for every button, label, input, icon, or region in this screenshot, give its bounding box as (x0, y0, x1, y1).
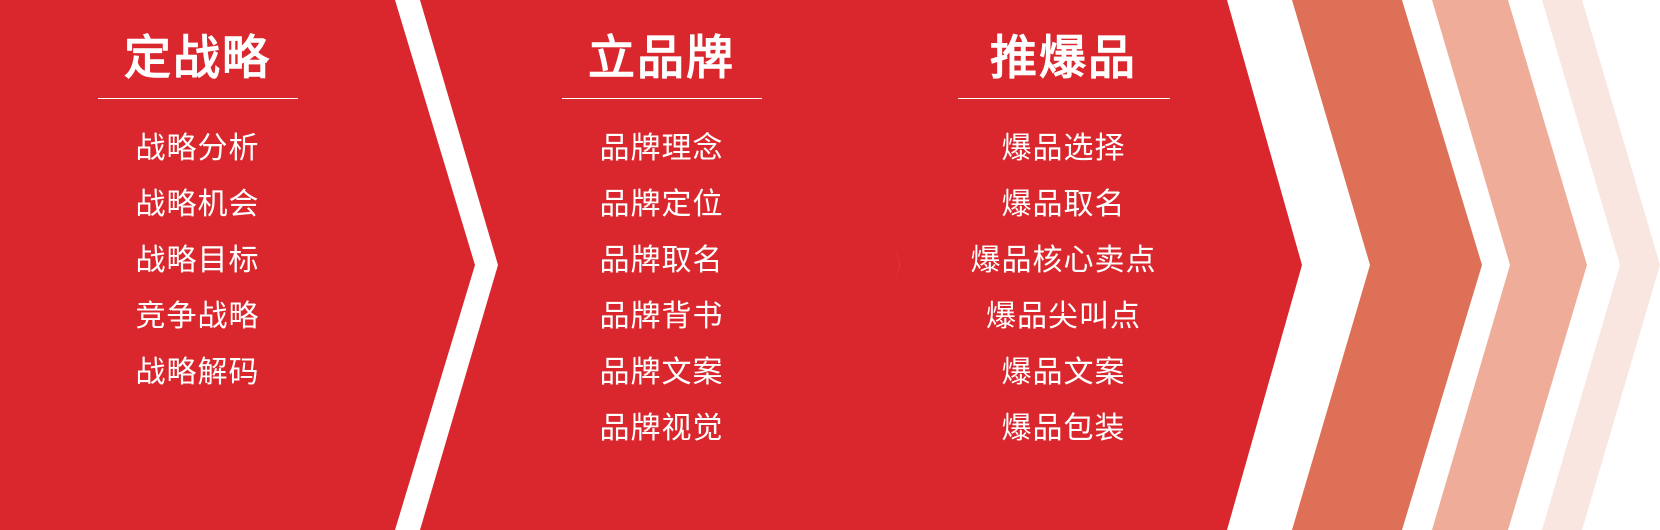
stage-panel-1-content: 定战略 战略分析 战略机会 战略目标 竞争战略 战略解码 (0, 0, 395, 530)
stage-panel-2-content: 立品牌 品牌理念 品牌定位 品牌取名 品牌背书 品牌文案 品牌视觉 (498, 0, 825, 530)
stage-1-title: 定战略 (124, 33, 271, 84)
stage-2-title-divider (562, 98, 762, 99)
list-item[interactable]: 品牌取名 (600, 233, 724, 289)
list-item[interactable]: 品牌理念 (600, 121, 724, 177)
stage-panel-3-content: 推爆品 爆品选择 爆品取名 爆品核心卖点 爆品尖叫点 爆品文案 爆品包装 (900, 0, 1227, 530)
stage-3-item-list: 爆品选择 爆品取名 爆品核心卖点 爆品尖叫点 爆品文案 爆品包装 (971, 121, 1157, 457)
list-item[interactable]: 竞争战略 (136, 289, 260, 345)
stage-3-title-divider (958, 98, 1170, 99)
list-item[interactable]: 爆品尖叫点 (971, 289, 1157, 345)
list-item[interactable]: 品牌定位 (600, 177, 724, 233)
stage-2-title: 立品牌 (588, 33, 735, 84)
list-item[interactable]: 爆品文案 (971, 345, 1157, 401)
stage-1-item-list: 战略分析 战略机会 战略目标 竞争战略 战略解码 (136, 121, 260, 401)
decorative-chevron-1 (1292, 0, 1482, 530)
stage-3-title: 推爆品 (990, 33, 1137, 84)
list-item[interactable]: 战略分析 (136, 121, 260, 177)
stage-1-title-divider (98, 98, 298, 99)
list-item[interactable]: 爆品取名 (971, 177, 1157, 233)
stage-panel-1[interactable]: 定战略 战略分析 战略机会 战略目标 竞争战略 战略解码 (0, 0, 475, 530)
stage-panel-2[interactable]: 立品牌 品牌理念 品牌定位 品牌取名 品牌背书 品牌文案 品牌视觉 (420, 0, 900, 530)
list-item[interactable]: 爆品核心卖点 (971, 233, 1157, 289)
list-item[interactable]: 战略解码 (136, 345, 260, 401)
stage-2-item-list: 品牌理念 品牌定位 品牌取名 品牌背书 品牌文案 品牌视觉 (600, 121, 724, 457)
list-item[interactable]: 战略目标 (136, 233, 260, 289)
list-item[interactable]: 爆品选择 (971, 121, 1157, 177)
list-item[interactable]: 战略机会 (136, 177, 260, 233)
list-item[interactable]: 品牌背书 (600, 289, 724, 345)
list-item[interactable]: 品牌视觉 (600, 401, 724, 457)
list-item[interactable]: 品牌文案 (600, 345, 724, 401)
chevron-process-infographic: 定战略 战略分析 战略机会 战略目标 竞争战略 战略解码 立品牌 品牌理念 品牌… (0, 0, 1660, 530)
list-item[interactable]: 爆品包装 (971, 401, 1157, 457)
